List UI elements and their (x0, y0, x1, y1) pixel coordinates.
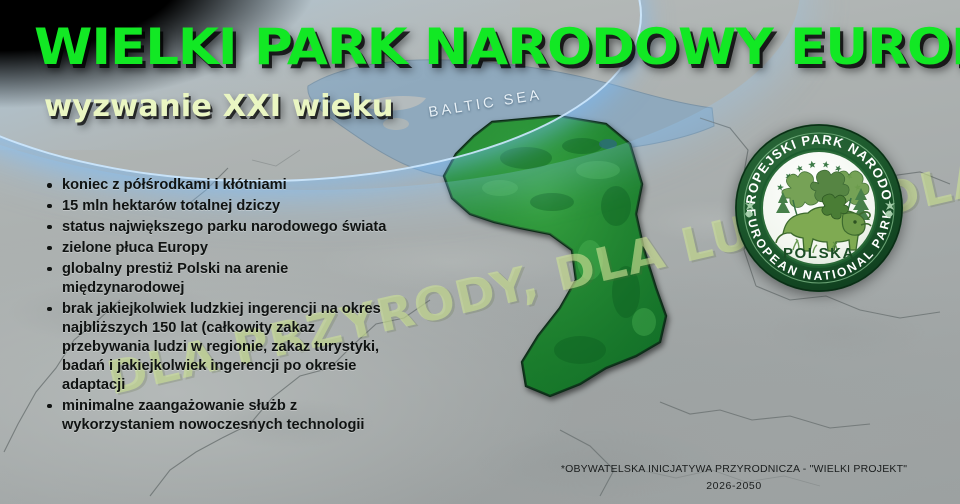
footer-line-2: 2026-2050 (524, 478, 944, 494)
list-item: 15 mln hektarów totalnej dziczy (44, 197, 394, 216)
list-item: status największego parku narodowego świ… (44, 218, 394, 237)
national-park-emblem: EUROPEJSKI PARK NARODOWY EUROPEAN NATION… (733, 122, 905, 294)
emblem-center-text: POLSKA (783, 245, 855, 262)
poster-title: WIELKI PARK NARODOWY EUROPY (34, 22, 960, 72)
feature-list: koniec z półśrodkami i kłótniami 15 mln … (44, 176, 394, 437)
footer-note: *OBYWATELSKA INICJATYWA PRZYRODNICZA - "… (524, 461, 944, 494)
list-item: brak jakiejkolwiek ludzkiej ingerencji n… (44, 300, 394, 395)
poster-subtitle: wyzwanie XXI wieku (44, 92, 394, 122)
list-item: koniec z półśrodkami i kłótniami (44, 176, 394, 195)
list-item: globalny prestiż Polski na arenie między… (44, 260, 394, 298)
poster: BALTIC SEA (0, 0, 960, 504)
list-item: zielone płuca Europy (44, 239, 394, 258)
footer-line-1: *OBYWATELSKA INICJATYWA PRZYRODNICZA - "… (524, 461, 944, 477)
list-item: minimalne zaangażowanie służb z wykorzys… (44, 397, 394, 435)
